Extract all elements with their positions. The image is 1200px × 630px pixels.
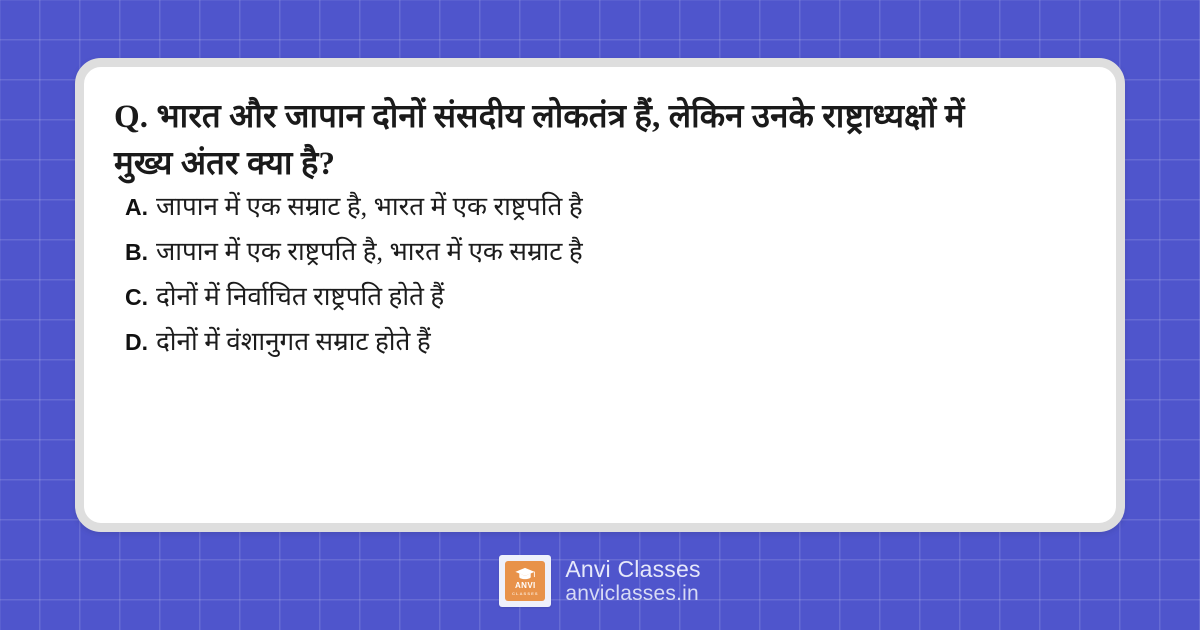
brand-url[interactable]: anviclasses.in [565, 583, 700, 605]
option-d-text: दोनों में वंशानुगत सम्राट होते हैं [156, 329, 431, 355]
option-c-letter: C. [125, 286, 156, 309]
brand-logo: ANVI CLASSES [499, 555, 551, 607]
option-c[interactable]: C. दोनों में निर्वाचित राष्ट्रपति होते ह… [125, 284, 1086, 329]
logo-tile: ANVI CLASSES [505, 561, 545, 601]
option-d[interactable]: D. दोनों में वंशानुगत सम्राट होते हैं [125, 329, 1086, 374]
option-d-letter: D. [125, 331, 156, 354]
option-c-text: दोनों में निर्वाचित राष्ट्रपति होते हैं [156, 284, 444, 310]
logo-subword: CLASSES [512, 592, 539, 596]
graduation-cap-icon [514, 567, 536, 581]
option-a-letter: A. [125, 196, 156, 219]
brand-name: Anvi Classes [565, 557, 700, 581]
question-card: Q. भारत और जापान दोनों संसदीय लोकतंत्र ह… [75, 58, 1125, 532]
options-list: A. जापान में एक सम्राट है, भारत में एक र… [114, 194, 1086, 374]
footer-branding: ANVI CLASSES Anvi Classes anviclasses.in [0, 545, 1200, 617]
option-b-letter: B. [125, 241, 156, 264]
brand-text-block: Anvi Classes anviclasses.in [565, 557, 700, 605]
option-b[interactable]: B. जापान में एक राष्ट्रपति है, भारत में … [125, 239, 1086, 284]
option-a[interactable]: A. जापान में एक सम्राट है, भारत में एक र… [125, 194, 1086, 239]
question-card-content: Q. भारत और जापान दोनों संसदीय लोकतंत्र ह… [84, 67, 1116, 523]
logo-word: ANVI [515, 582, 536, 590]
option-a-text: जापान में एक सम्राट है, भारत में एक राष्… [156, 194, 583, 220]
option-b-text: जापान में एक राष्ट्रपति है, भारत में एक … [156, 239, 583, 265]
question-text: Q. भारत और जापान दोनों संसदीय लोकतंत्र ह… [114, 94, 1014, 188]
